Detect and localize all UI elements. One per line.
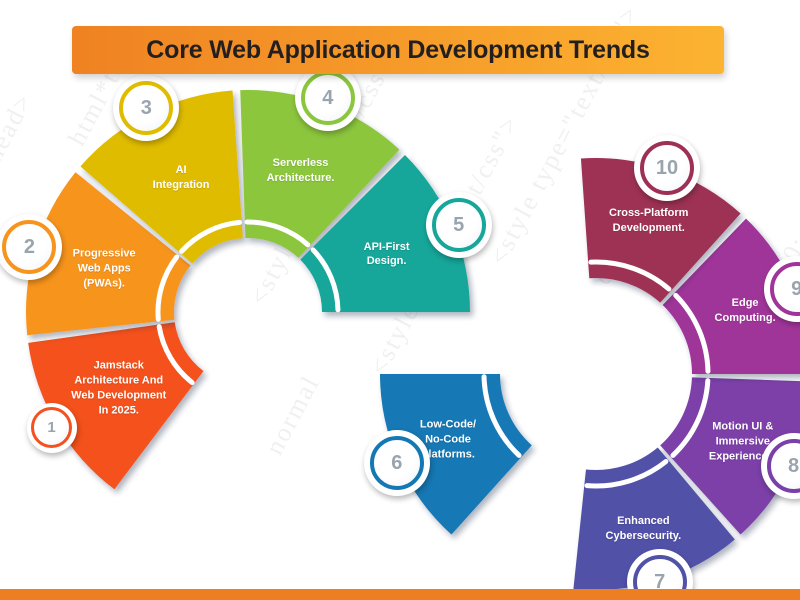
segment-badge-3[interactable]: 3 — [113, 75, 179, 141]
badge-number: 2 — [24, 237, 35, 257]
badge-ring: 9 — [770, 262, 800, 316]
badge-number: 4 — [322, 88, 333, 108]
segment-badge-10[interactable]: 10 — [634, 135, 700, 201]
badge-number: 3 — [141, 98, 152, 118]
badge-number: 9 — [791, 279, 800, 299]
infographic-canvas: <head> html*text* <style type="text/css"… — [0, 0, 800, 600]
badge-ring: 6 — [370, 436, 424, 490]
segment-badge-1[interactable]: 1 — [27, 403, 77, 453]
title-banner: Core Web Application Development Trends — [72, 26, 724, 74]
bottom-accent-bar — [0, 589, 800, 600]
badge-number: 5 — [453, 215, 464, 235]
segment-badge-5[interactable]: 5 — [426, 192, 492, 258]
badge-ring: 3 — [119, 81, 173, 135]
badge-ring: 5 — [432, 198, 486, 252]
badge-ring: 1 — [31, 407, 72, 448]
segment-badge-4[interactable]: 4 — [295, 65, 361, 131]
badge-ring: 10 — [640, 141, 694, 195]
badge-number: 1 — [47, 420, 55, 435]
badge-ring: 4 — [301, 71, 355, 125]
badge-number: 10 — [656, 158, 678, 178]
badge-ring: 8 — [767, 439, 800, 493]
badge-ring: 2 — [2, 220, 56, 274]
badge-number: 8 — [788, 456, 799, 476]
page-title: Core Web Application Development Trends — [146, 36, 649, 65]
badge-number: 6 — [391, 453, 402, 473]
segment-badge-6[interactable]: 6 — [364, 430, 430, 496]
